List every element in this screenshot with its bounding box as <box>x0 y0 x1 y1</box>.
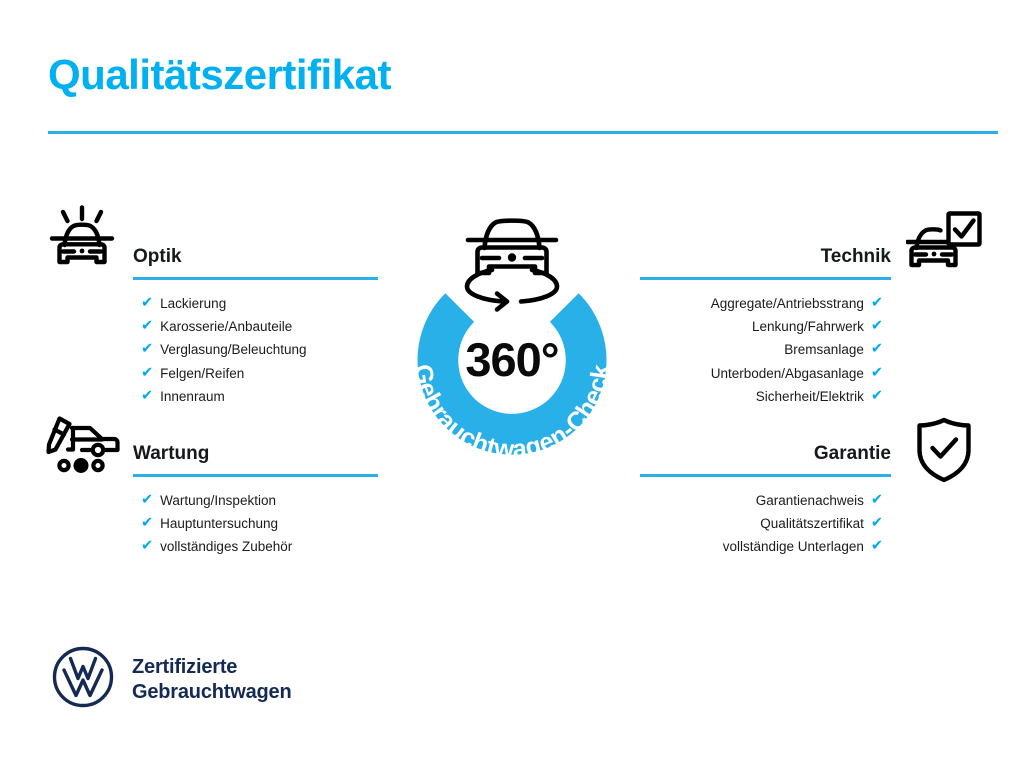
check-icon: ✔ <box>871 319 883 334</box>
list-item: ✔Hauptuntersuchung <box>141 512 378 535</box>
section-technik: Technik Aggregate/Antriebsstrang✔ Lenkun… <box>640 244 891 408</box>
check-icon: ✔ <box>141 493 153 508</box>
list-item-label: Unterboden/Abgasanlage <box>711 362 864 385</box>
list-item: Garantienachweis✔ <box>640 489 883 512</box>
list-item: ✔Innenraum <box>141 385 378 408</box>
section-optik-header: Optik <box>133 244 378 278</box>
car-checkbox-icon <box>906 211 982 280</box>
list-item-label: Innenraum <box>160 385 225 408</box>
section-wartung-divider <box>133 474 378 477</box>
check-icon: ✔ <box>871 493 883 508</box>
footer-brand-line1: Zertifizierte <box>132 655 291 680</box>
list-item-label: Bremsanlage <box>784 338 864 361</box>
section-wartung-list: ✔Wartung/Inspektion ✔Hauptuntersuchung ✔… <box>133 489 378 559</box>
section-optik-divider <box>133 277 378 280</box>
list-item-label: Wartung/Inspektion <box>160 489 276 512</box>
list-item-label: Karosserie/Anbauteile <box>160 315 292 338</box>
section-technik-divider <box>640 277 891 280</box>
list-item-label: Lackierung <box>160 292 226 315</box>
list-item-label: Verglasung/Beleuchtung <box>160 338 306 361</box>
gebrauchtwagen-check-badge: Gebrauchtwagen-Check 360° <box>370 196 654 486</box>
check-icon: ✔ <box>871 366 883 381</box>
check-icon: ✔ <box>141 516 153 531</box>
section-optik-title: Optik <box>133 244 378 270</box>
list-item: ✔Felgen/Reifen <box>141 362 378 385</box>
check-icon: ✔ <box>141 389 153 404</box>
check-icon: ✔ <box>141 539 153 554</box>
list-item-label: Lenkung/Fahrwerk <box>752 315 864 338</box>
section-technik-list: Aggregate/Antriebsstrang✔ Lenkung/Fahrwe… <box>640 292 891 408</box>
section-garantie-header: Garantie <box>640 441 891 475</box>
check-icon: ✔ <box>141 366 153 381</box>
section-technik-title: Technik <box>640 244 891 270</box>
list-item-label: Hauptuntersuchung <box>160 512 278 535</box>
list-item: Unterboden/Abgasanlage✔ <box>640 362 883 385</box>
section-wartung-title: Wartung <box>133 441 378 467</box>
section-optik-list: ✔Lackierung ✔Karosserie/Anbauteile ✔Verg… <box>133 292 378 408</box>
car-shine-icon <box>46 205 118 278</box>
page-title: Qualitätszertifikat <box>48 52 391 98</box>
check-icon: ✔ <box>141 319 153 334</box>
list-item: Lenkung/Fahrwerk✔ <box>640 315 883 338</box>
list-item: ✔Karosserie/Anbauteile <box>141 315 378 338</box>
list-item: ✔Wartung/Inspektion <box>141 489 378 512</box>
list-item-label: vollständiges Zubehör <box>160 535 292 558</box>
list-item: Qualitätszertifikat✔ <box>640 512 883 535</box>
section-garantie: Garantie Garantienachweis✔ Qualitätszert… <box>640 441 891 559</box>
section-technik-header: Technik <box>640 244 891 278</box>
list-item: Bremsanlage✔ <box>640 338 883 361</box>
check-icon: ✔ <box>141 296 153 311</box>
footer-brand-line2: Gebrauchtwagen <box>132 680 291 705</box>
list-item-label: Sicherheit/Elektrik <box>756 385 864 408</box>
section-garantie-list: Garantienachweis✔ Qualitätszertifikat✔ v… <box>640 489 891 559</box>
footer-brand-text: Zertifizierte Gebrauchtwagen <box>132 655 291 705</box>
shield-check-icon <box>914 417 974 488</box>
footer-brand: Zertifizierte Gebrauchtwagen <box>52 646 291 713</box>
section-garantie-title: Garantie <box>640 441 891 467</box>
check-icon: ✔ <box>871 342 883 357</box>
title-divider <box>48 131 998 134</box>
list-item-label: Garantienachweis <box>756 489 864 512</box>
list-item-label: vollständige Unterlagen <box>723 535 864 558</box>
car-rotation-icon <box>467 221 557 310</box>
list-item-label: Felgen/Reifen <box>160 362 244 385</box>
list-item: Aggregate/Antriebsstrang✔ <box>640 292 883 315</box>
list-item-label: Qualitätszertifikat <box>760 512 864 535</box>
list-item: ✔vollständiges Zubehör <box>141 535 378 558</box>
check-icon: ✔ <box>871 389 883 404</box>
list-item: Sicherheit/Elektrik✔ <box>640 385 883 408</box>
check-icon: ✔ <box>871 516 883 531</box>
volkswagen-logo <box>52 646 114 713</box>
list-item: ✔Verglasung/Beleuchtung <box>141 338 378 361</box>
section-garantie-divider <box>640 474 891 477</box>
list-item-label: Aggregate/Antriebsstrang <box>711 292 864 315</box>
list-item: vollständige Unterlagen✔ <box>640 535 883 558</box>
section-optik: Optik ✔Lackierung ✔Karosserie/Anbauteile… <box>133 244 378 408</box>
check-icon: ✔ <box>871 539 883 554</box>
check-icon: ✔ <box>871 296 883 311</box>
pencil-car-service-icon <box>46 415 120 480</box>
list-item: ✔Lackierung <box>141 292 378 315</box>
section-wartung: Wartung ✔Wartung/Inspektion ✔Hauptunters… <box>133 441 378 559</box>
section-wartung-header: Wartung <box>133 441 378 475</box>
check-icon: ✔ <box>141 342 153 357</box>
